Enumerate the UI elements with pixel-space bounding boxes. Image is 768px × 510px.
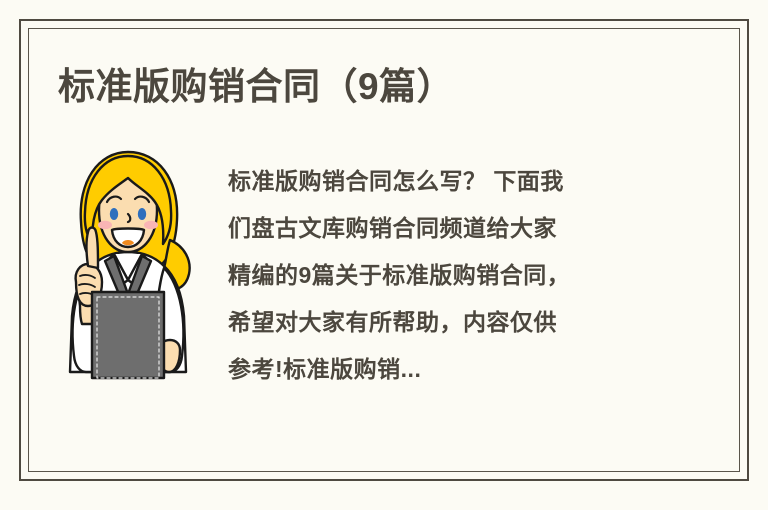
summary-line: 们盘古文库购销合同频道给大家 <box>228 205 653 252</box>
summary-line: 标准版购销合同怎么写？ 下面我 <box>228 158 653 205</box>
girl-pointing-up-illustration <box>58 144 198 382</box>
article-summary: 标准版购销合同怎么写？ 下面我 们盘古文库购销合同频道给大家 精编的9篇关于标准… <box>228 158 653 393</box>
page-root: 标准版购销合同（9篇） <box>0 0 768 510</box>
summary-line: 希望对大家有所帮助，内容仅供 <box>228 299 653 346</box>
page-title: 标准版购销合同（9篇） <box>58 64 454 110</box>
summary-line: 参考!标准版购销... <box>228 346 653 393</box>
summary-line: 精编的9篇关于标准版购销合同， <box>228 252 653 299</box>
